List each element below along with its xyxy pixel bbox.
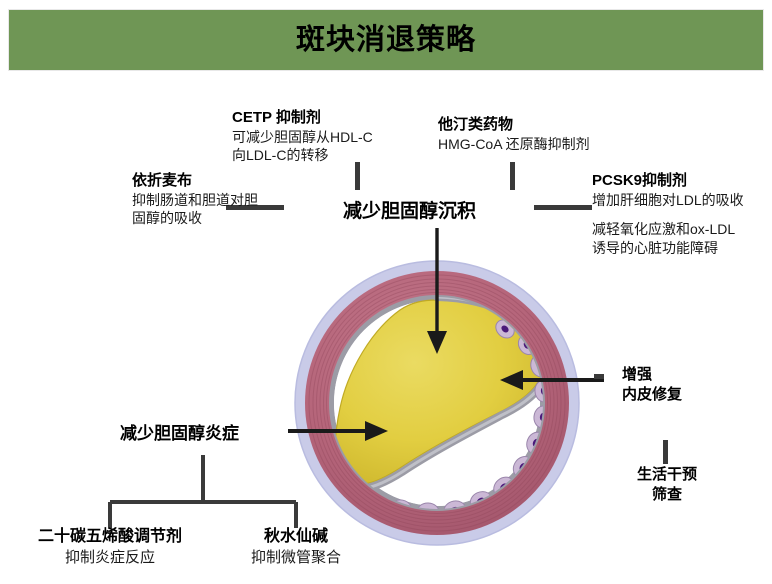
endothelium-label: 增强 内皮修复	[622, 365, 682, 404]
colchicine-desc: 抑制微管聚合	[216, 548, 376, 568]
cetp-desc-2: 向LDL-C的转移	[232, 146, 373, 164]
arrow-inflammation-to-plaque	[288, 421, 388, 441]
connector-endothelium	[594, 374, 604, 379]
connector-lifestyle	[663, 440, 668, 464]
label-colchicine: 秋水仙碱 抑制微管聚合	[216, 527, 376, 567]
lifestyle-line1: 生活干预	[622, 465, 712, 485]
label-statin: 他汀类药物 HMG-CoA 还原酶抑制剂	[438, 116, 590, 153]
atherosclerotic-plaque	[335, 300, 543, 484]
endothelium-label-line2: 内皮修复	[622, 385, 682, 405]
endothelium-layer	[337, 316, 554, 521]
lifestyle-line2: 筛查	[622, 485, 712, 505]
statin-desc-1: HMG-CoA 还原酶抑制剂	[438, 135, 590, 153]
arrow-hub-to-plaque	[427, 228, 447, 354]
artery-media	[305, 271, 569, 535]
connector-statin	[510, 162, 515, 190]
endothelium-label-line1: 增强	[622, 365, 682, 385]
epa-name: 二十碳五烯酸调节剂	[20, 527, 200, 548]
ezetimibe-desc-1: 抑制肠道和胆道对胆	[132, 191, 258, 209]
lifestyle-label: 生活干预 筛查	[622, 465, 712, 504]
ezetimibe-desc-2: 固醇的吸收	[132, 209, 258, 227]
artery-lumen	[334, 297, 554, 521]
connector-cetp	[355, 162, 360, 190]
inflammation-label: 减少胆固醇炎症	[120, 419, 239, 444]
label-ezetimibe: 依折麦布 抑制肠道和胆道对胆 固醇的吸收	[132, 172, 258, 228]
page-title: 斑块消退策略	[296, 26, 476, 55]
label-pcsk9: PCSK9抑制剂 增加肝细胞对LDL的吸收 减轻氧化应激和ox-LDL 诱导的心…	[592, 172, 744, 257]
ezetimibe-name: 依折麦布	[132, 172, 258, 191]
artery-intima	[329, 295, 545, 511]
endothelial-nuclei	[346, 324, 548, 515]
diagram-canvas: 斑块消退策略	[0, 0, 772, 584]
label-epa: 二十碳五烯酸调节剂 抑制炎症反应	[20, 527, 200, 567]
label-cetp: CETP 抑制剂 可减少胆固醇从HDL-C 向LDL-C的转移	[232, 109, 373, 165]
pcsk9-desc-2: 减轻氧化应激和ox-LDL	[592, 220, 744, 238]
pcsk9-desc-1: 增加肝细胞对LDL的吸收	[592, 191, 744, 209]
statin-name: 他汀类药物	[438, 116, 590, 135]
title-banner: 斑块消退策略	[8, 9, 764, 71]
arrow-endothelium-to-artery	[500, 370, 604, 390]
inflammation-bracket	[110, 455, 296, 528]
connector-pcsk9	[534, 205, 592, 210]
cetp-desc-1: 可减少胆固醇从HDL-C	[232, 128, 373, 146]
epa-desc: 抑制炎症反应	[20, 548, 200, 568]
fibrous-cap	[338, 297, 548, 489]
cetp-name: CETP 抑制剂	[232, 109, 373, 128]
pcsk9-desc-3: 诱导的心脏功能障碍	[592, 239, 744, 257]
colchicine-name: 秋水仙碱	[216, 527, 376, 548]
endothelial-cells	[337, 316, 554, 521]
pcsk9-name: PCSK9抑制剂	[592, 172, 744, 191]
center-hub-label: 减少胆固醇沉积	[343, 196, 476, 223]
artery-adventitia	[295, 261, 579, 545]
